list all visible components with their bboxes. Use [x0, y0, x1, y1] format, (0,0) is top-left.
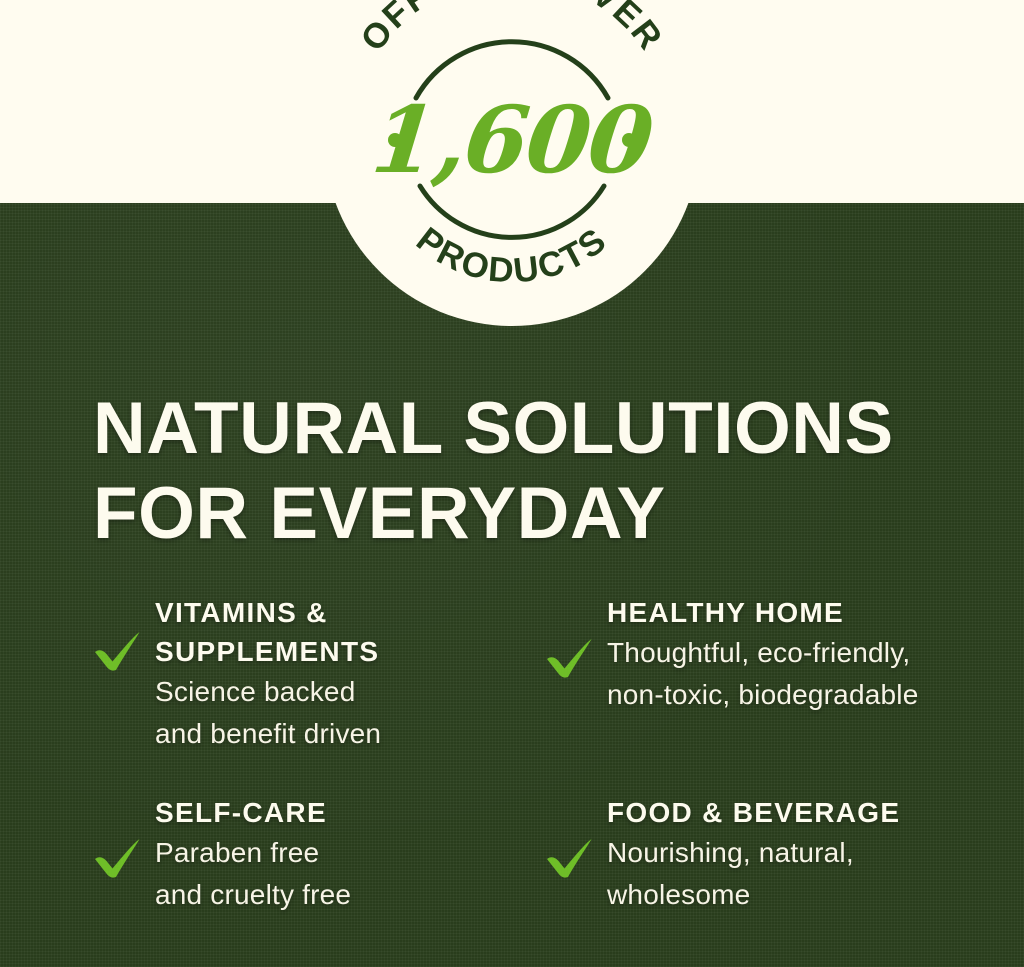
check-icon	[545, 637, 595, 679]
feature-body: SELF-CARE Paraben free and cruelty free	[155, 793, 351, 916]
feature-body: FOOD & BEVERAGE Nourishing, natural, who…	[607, 793, 900, 916]
badge-lower-decorative-arc	[420, 186, 604, 237]
headline-line-2: FOR EVERYDAY	[93, 471, 894, 556]
page-title: NATURAL SOLUTIONS FOR EVERYDAY	[93, 386, 894, 556]
feature-item-healthy-home: HEALTHY HOME Thoughtful, eco-friendly, n…	[545, 593, 993, 793]
badge-dot-right	[622, 133, 636, 147]
feature-item-food-beverage: FOOD & BEVERAGE Nourishing, natural, who…	[545, 793, 993, 916]
feature-item-vitamins-supplements: VITAMINS & SUPPLEMENTS Science backed an…	[93, 593, 545, 793]
feature-item-self-care: SELF-CARE Paraben free and cruelty free	[93, 793, 545, 916]
feature-body: VITAMINS & SUPPLEMENTS Science backed an…	[155, 593, 381, 755]
check-icon-wrap	[93, 793, 155, 879]
check-icon-wrap	[545, 593, 607, 679]
feature-description: Science backed and benefit driven	[155, 671, 381, 755]
feature-body: HEALTHY HOME Thoughtful, eco-friendly, n…	[607, 593, 918, 716]
check-icon-wrap	[93, 593, 155, 672]
feature-title: FOOD & BEVERAGE	[607, 793, 900, 832]
check-icon-wrap	[545, 793, 607, 879]
promo-poster: OFFERING OVER PRODUCTS 1,600 NATURAL SOL…	[0, 0, 1024, 967]
feature-grid: VITAMINS & SUPPLEMENTS Science backed an…	[93, 593, 993, 916]
feature-title: HEALTHY HOME	[607, 593, 918, 632]
feature-title: SELF-CARE	[155, 793, 351, 832]
feature-title: VITAMINS & SUPPLEMENTS	[155, 593, 381, 671]
check-icon	[93, 630, 143, 672]
badge-dot-left	[388, 133, 402, 147]
feature-description: Nourishing, natural, wholesome	[607, 832, 900, 916]
badge-bottom-arc-text: PRODUCTS	[409, 220, 614, 291]
feature-description: Paraben free and cruelty free	[155, 832, 351, 916]
badge-graphics: OFFERING OVER PRODUCTS	[324, 0, 700, 326]
badge-upper-decorative-arc	[416, 42, 608, 98]
badge-top-arc-text: OFFERING OVER	[353, 0, 671, 58]
check-icon	[545, 837, 595, 879]
feature-description: Thoughtful, eco-friendly, non-toxic, bio…	[607, 632, 918, 716]
check-icon	[93, 837, 143, 879]
headline-line-1: NATURAL SOLUTIONS	[93, 386, 894, 471]
